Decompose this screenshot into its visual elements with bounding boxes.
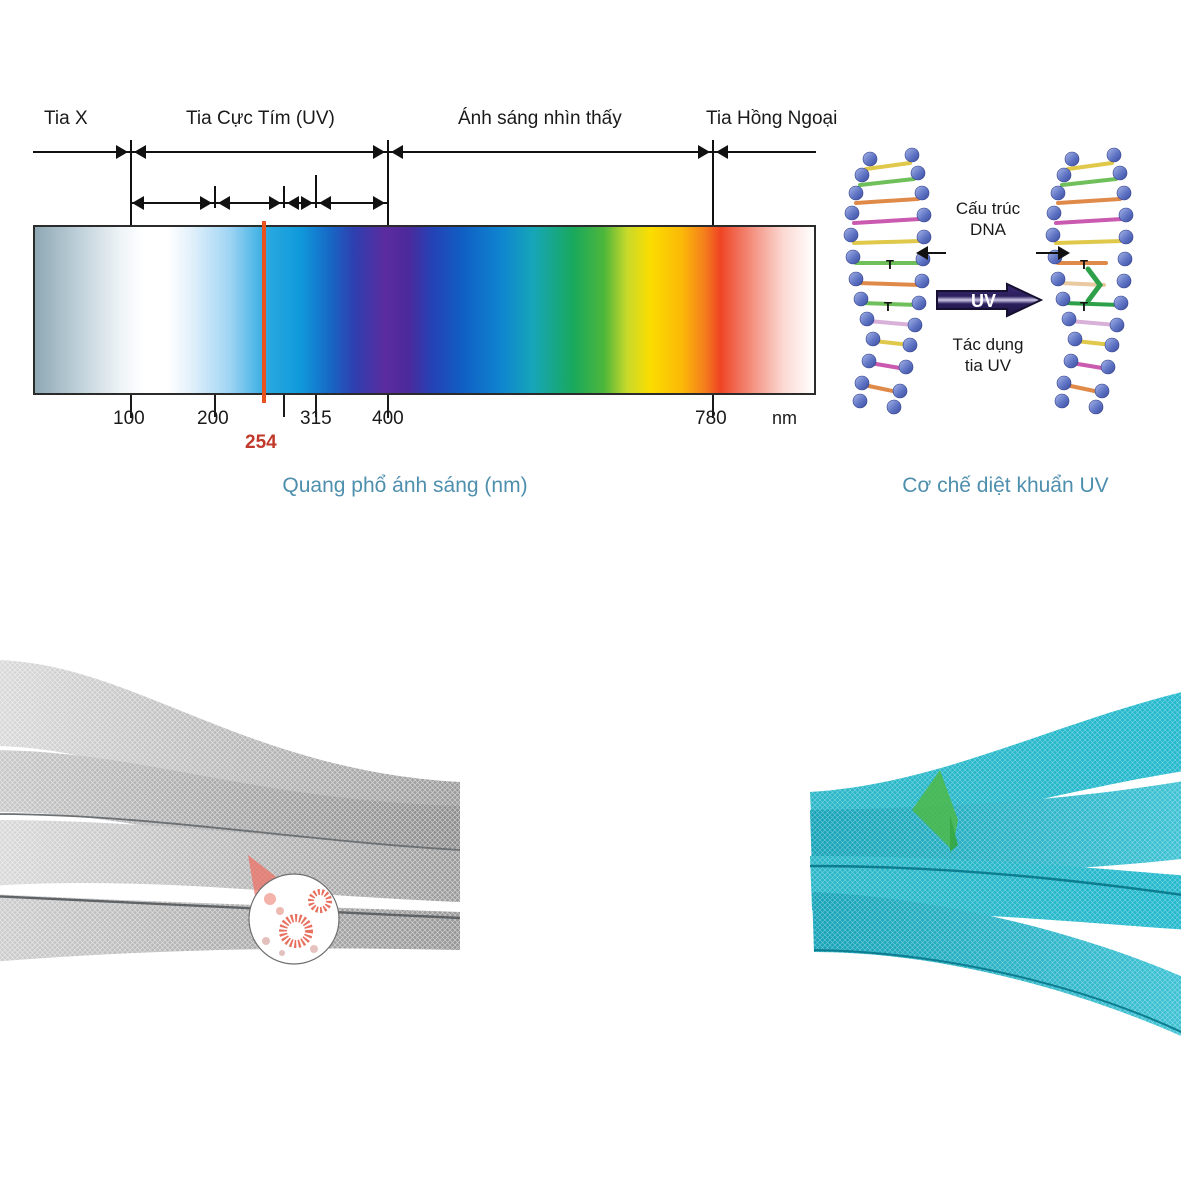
uv-arrow-icon: UV [935, 282, 1043, 318]
base-letter-T-lower: T [884, 299, 892, 314]
tick-label-100: 100 [113, 408, 145, 430]
arrowhead-uvc-right [200, 196, 212, 210]
arrowhead-uvx-right [301, 196, 313, 210]
uv-subtick-280 [283, 186, 285, 208]
tick-label-315: 315 [300, 408, 332, 430]
tick-label-200: 200 [197, 408, 229, 430]
top-panel: Tia X Tia Cực Tím (UV) Ánh sáng nhìn thấ… [0, 0, 1181, 530]
air-purifier-illustration: Không khí sạch [0, 640, 1181, 1181]
tick-label-400: 400 [372, 408, 404, 430]
band-label-visible: Ánh sáng nhìn thấy [458, 108, 622, 130]
arrowhead-uvb-right [269, 196, 281, 210]
tick-280 [283, 395, 285, 417]
uv-arrow-text: UV [971, 291, 996, 311]
arrowhead-uva-right [373, 196, 385, 210]
germ-magnifier-callout [236, 855, 346, 965]
dna-helix-damaged-icon: T T [1042, 145, 1138, 415]
band-label-x-ray: Tia X [44, 108, 88, 130]
uv-subtick-315 [315, 175, 317, 208]
dna-structure-label-line1: Cấu trúc [938, 198, 1038, 219]
tick-label-254: 254 [245, 432, 277, 454]
arrowhead-visible-left [391, 145, 403, 159]
dna-helix-intact-icon: T T [840, 145, 936, 415]
uv-subtick-200 [214, 186, 216, 208]
spectrum-caption: Quang phổ ánh sáng (nm) [0, 474, 810, 498]
uv-effect-label-line1: Tác dụng [934, 334, 1042, 355]
dna-arrow-right-head [1058, 246, 1070, 260]
arrowhead-infrared-left [716, 145, 728, 159]
arrowhead-uva-left [319, 196, 331, 210]
band-label-infrared: Tia Hồng Ngoại [706, 108, 837, 130]
uv-subtick-400 [387, 172, 389, 206]
arrowhead-visible-right [698, 145, 710, 159]
spectrum-gradient-bar [33, 225, 816, 395]
dna-figure-caption: Cơ chế diệt khuẩn UV [830, 474, 1181, 498]
uv-effect-label: Tác dụng tia UV [934, 334, 1042, 377]
arrowhead-uvc-left [132, 196, 144, 210]
dna-arrow-right-line [1036, 252, 1060, 254]
light-spectrum-figure: Tia X Tia Cực Tím (UV) Ánh sáng nhìn thấ… [0, 0, 830, 530]
base-letter-T-lower: T [1080, 299, 1088, 314]
arrowhead-uvb-left [218, 196, 230, 210]
arrowhead-uvx-left [287, 196, 299, 210]
dna-structure-label: Cấu trúc DNA [938, 198, 1038, 241]
clean-air-flow-graphic [790, 660, 1181, 1040]
arrowhead-uv-right [373, 145, 385, 159]
axis-unit-label: nm [772, 408, 797, 429]
uv-subband-axis-line [130, 202, 388, 204]
marker-line-254nm [262, 221, 266, 403]
dna-arrow-left-head [916, 246, 928, 260]
base-letter-T-upper: T [886, 257, 894, 272]
band-label-ultraviolet: Tia Cực Tím (UV) [186, 108, 335, 130]
uv-effect-label-line2: tia UV [934, 355, 1042, 376]
arrowhead-x-ray-right [116, 145, 128, 159]
dirty-air-flow-graphic [0, 650, 460, 1020]
base-letter-T-upper: T [1080, 257, 1088, 272]
tick-label-780: 780 [695, 408, 727, 430]
uv-dna-mechanism-figure: T T [830, 0, 1181, 530]
spectrum-gradient-fill [35, 227, 814, 393]
arrowhead-uv-left [134, 145, 146, 159]
dna-structure-label-line2: DNA [938, 219, 1038, 240]
